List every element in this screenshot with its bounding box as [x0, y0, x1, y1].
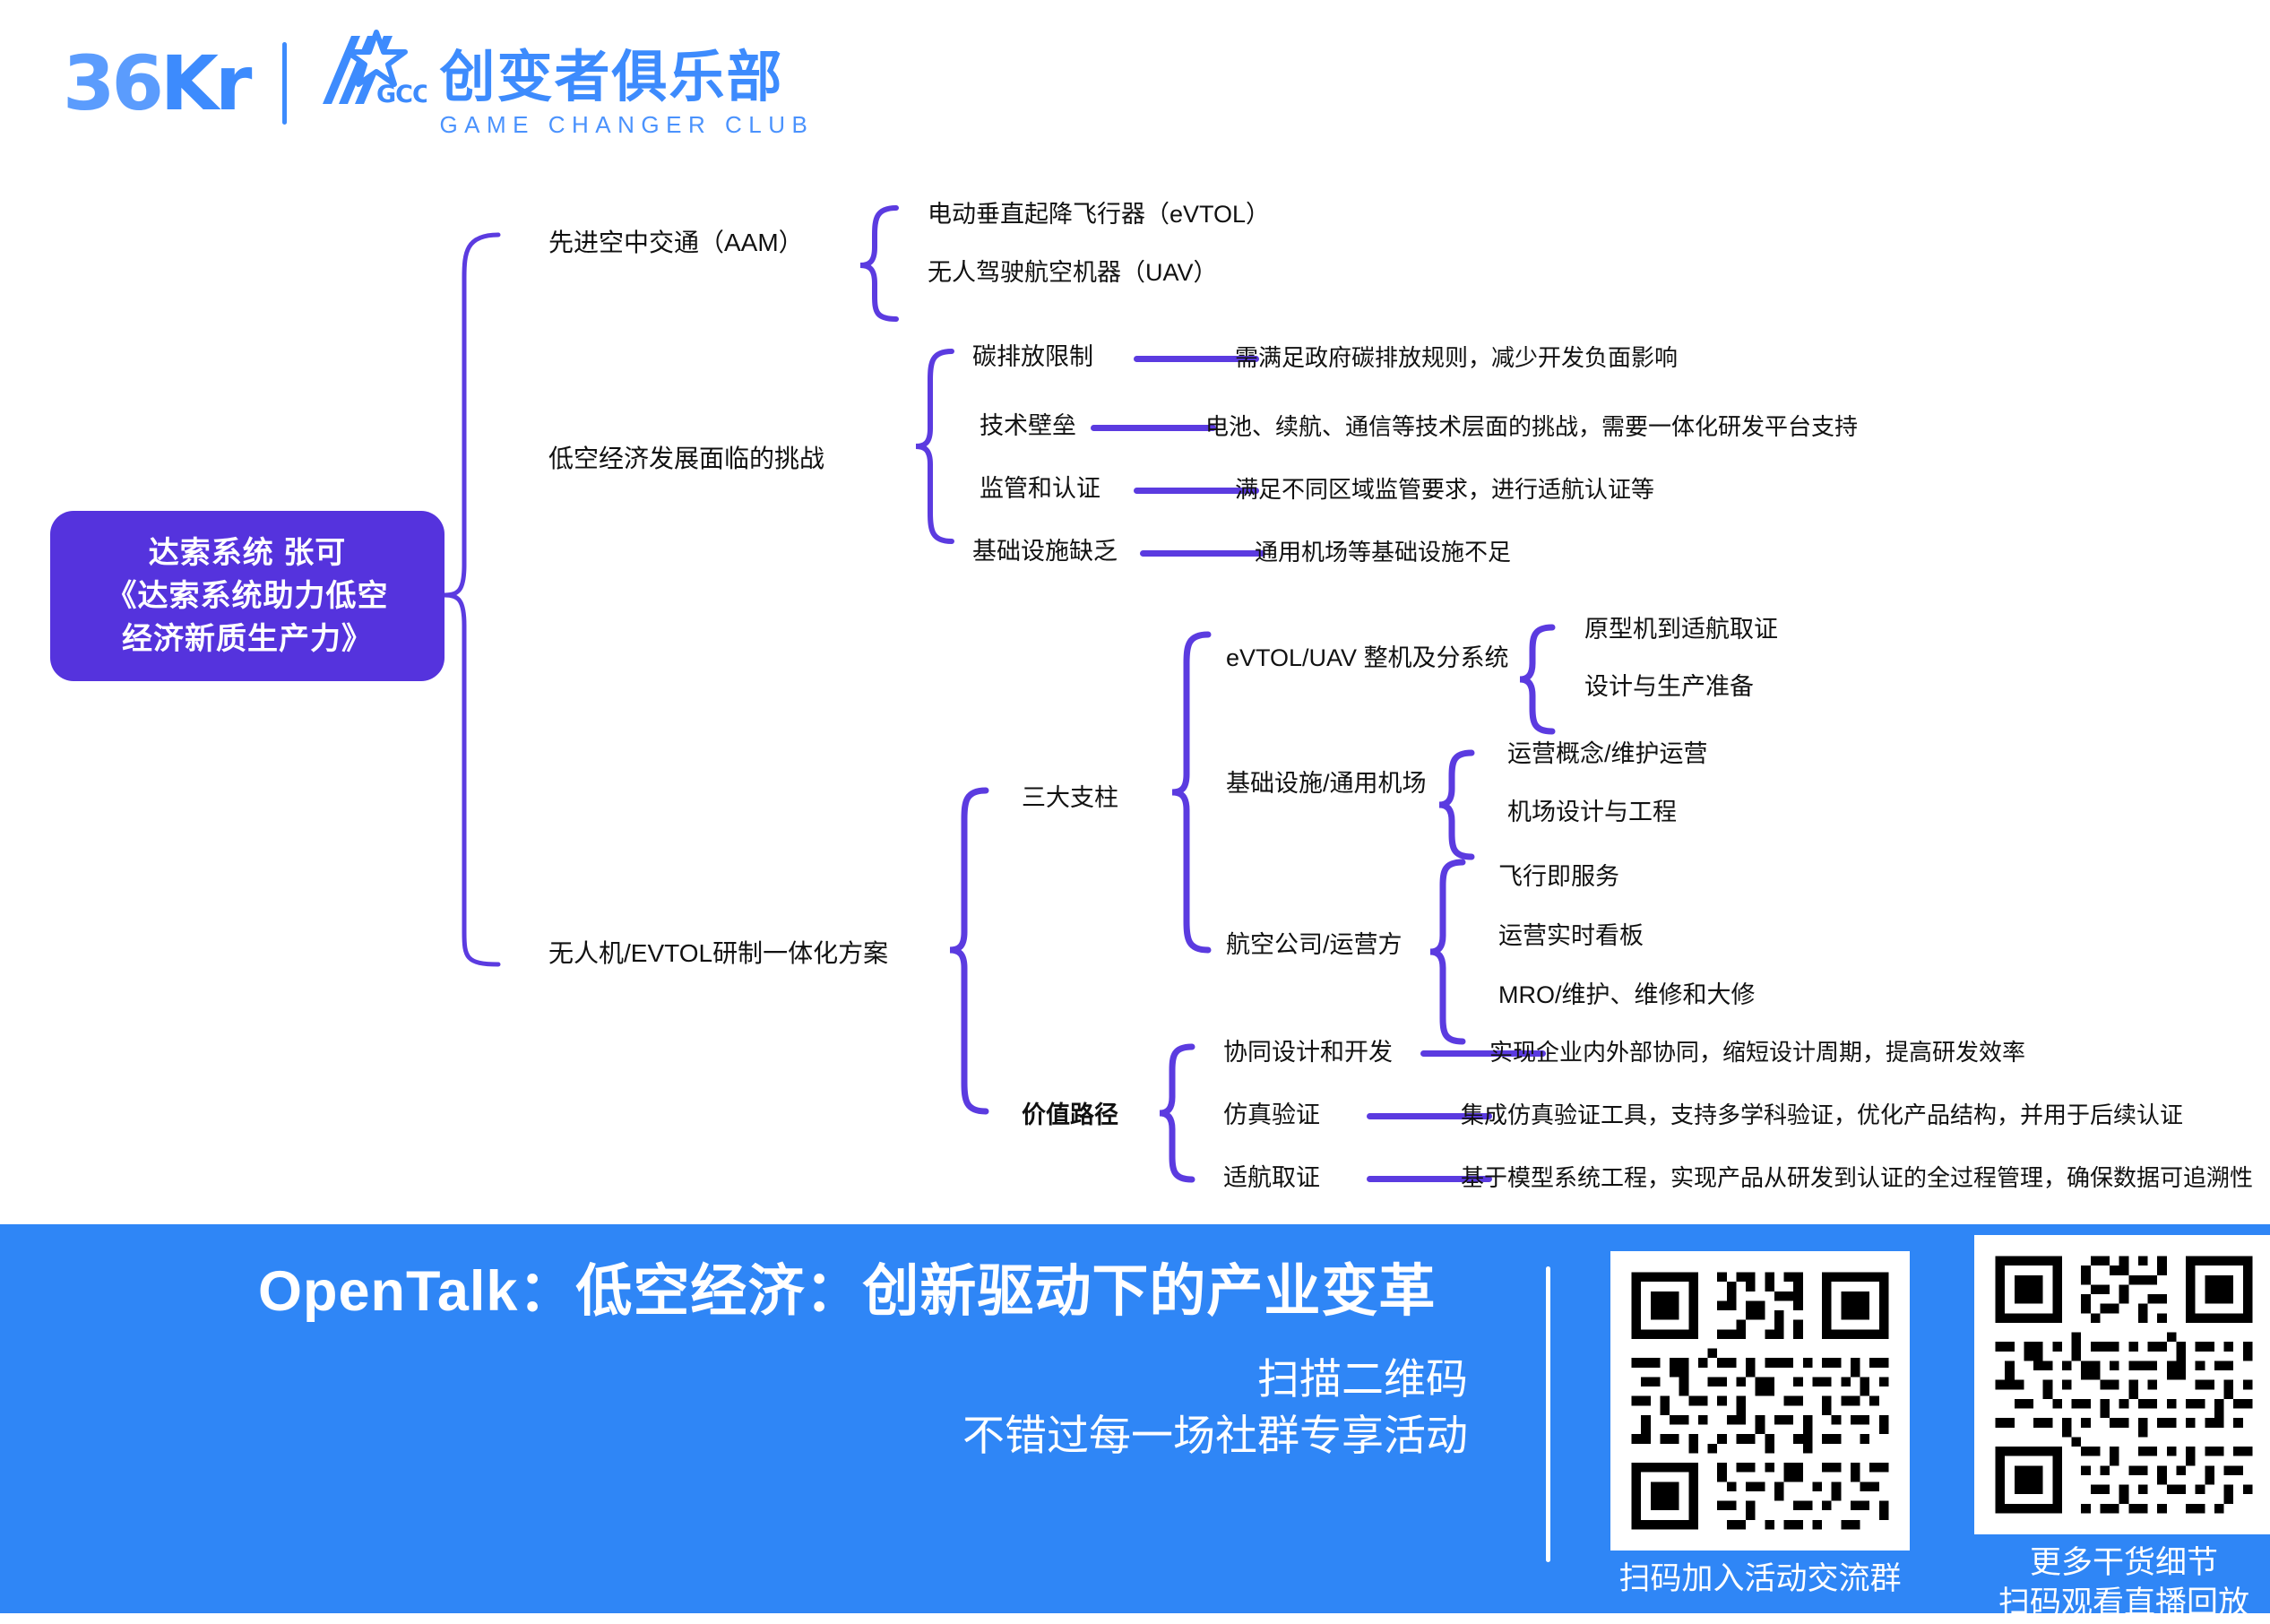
- pillar-leaf-faas[interactable]: 飞行即服务: [1498, 862, 1619, 893]
- aam-child-uav[interactable]: 无人驾驶航空机器（UAV）: [928, 258, 1218, 289]
- challenge-desc-carbon: 需满足政府碳排放规则，减少开发负面影响: [1235, 343, 1678, 373]
- challenge-desc-regulation: 满足不同区域监管要求，进行适航认证等: [1235, 475, 1654, 505]
- challenge-label-tech[interactable]: 技术壁垒: [980, 411, 1076, 442]
- pillar-label-airline-operator[interactable]: 航空公司/运营方: [1226, 930, 1403, 961]
- challenge-label-regulation[interactable]: 监管和认证: [980, 474, 1100, 505]
- banner-text-block: OpenTalk：低空经济：创新驱动下的产业变革 扫描二维码 不错过每一场社群专…: [258, 1257, 1468, 1464]
- qr-join-group-image[interactable]: [1610, 1251, 1910, 1551]
- connector-dash-infra: [1140, 550, 1265, 557]
- aam-child-evtol[interactable]: 电动垂直起降飞行器（eVTOL）: [928, 200, 1270, 230]
- qr-join-group-caption: 扫码加入活动交流群: [1618, 1559, 1901, 1600]
- banner-vertical-divider: [1546, 1266, 1550, 1562]
- qr-replay-caption-line-1: 更多干货细节: [1998, 1543, 2249, 1584]
- qr-replay-caption: 更多干货细节 扫码观看直播回放: [1998, 1543, 2249, 1624]
- pillar-leaf-airport-design[interactable]: 机场设计与工程: [1507, 798, 1677, 828]
- connector-dash-tech: [1091, 425, 1216, 431]
- challenge-desc-tech: 电池、续航、通信等技术层面的挑战，需要一体化研发平台支持: [1205, 412, 1858, 442]
- challenge-label-infra[interactable]: 基础设施缺乏: [972, 537, 1118, 567]
- pillar-leaf-design-production[interactable]: 设计与生产准备: [1584, 672, 1754, 703]
- value-desc-simulation: 集成仿真验证工具，支持多学科验证，优化产品结构，并用于后续认证: [1461, 1101, 2183, 1130]
- banner-subtitle-line-1: 扫描二维码: [258, 1351, 1468, 1407]
- root-node[interactable]: 达索系统 张可 《达索系统助力低空 经济新质生产力》: [50, 511, 445, 681]
- branch-label-uav-evtol-program[interactable]: 无人机/EVTOL研制一体化方案: [548, 937, 888, 969]
- root-line-1: 达索系统 张可: [149, 531, 346, 574]
- challenge-desc-infra: 通用机场等基础设施不足: [1255, 538, 1511, 567]
- group-label-value-path[interactable]: 价值路径: [1022, 1101, 1118, 1131]
- value-label-airworthiness[interactable]: 适航取证: [1223, 1163, 1320, 1194]
- challenge-label-carbon[interactable]: 碳排放限制: [972, 342, 1093, 373]
- banner-subtitle-line-2: 不错过每一场社群专享活动: [258, 1407, 1468, 1464]
- value-desc-airworthiness: 基于模型系统工程，实现产品从研发到认证的全过程管理，确保数据可追溯性: [1461, 1163, 2253, 1193]
- branch-label-aam[interactable]: 先进空中交通（AAM）: [548, 227, 804, 258]
- value-label-simulation[interactable]: 仿真验证: [1223, 1101, 1320, 1131]
- banner-subtitle: 扫描二维码 不错过每一场社群专享活动: [258, 1351, 1468, 1464]
- branch-label-challenges[interactable]: 低空经济发展面临的挑战: [548, 443, 824, 474]
- qr-join-group-block[interactable]: 扫码加入活动交流群: [1610, 1251, 1910, 1600]
- group-label-three-pillars[interactable]: 三大支柱: [1022, 783, 1118, 814]
- banner-title: OpenTalk：低空经济：创新驱动下的产业变革: [258, 1257, 1468, 1327]
- root-line-3: 经济新质生产力》: [122, 618, 373, 661]
- pillar-label-evtol-uav-aircraft[interactable]: eVTOL/UAV 整机及分系统: [1226, 644, 1509, 674]
- pillar-leaf-ops-concept[interactable]: 运营概念/维护运营: [1507, 739, 1708, 770]
- pillar-leaf-prototype-cert[interactable]: 原型机到适航取证: [1584, 615, 1778, 645]
- pillar-leaf-mro[interactable]: MRO/维护、维修和大修: [1498, 980, 1756, 1011]
- value-desc-collab-design: 实现企业内外部协同，缩短设计周期，提高研发效率: [1489, 1038, 2025, 1067]
- root-line-2: 《达索系统助力低空: [107, 574, 389, 618]
- mindmap: 达索系统 张可 《达索系统助力低空 经济新质生产力》 先进空中交通（AAM） 电…: [0, 0, 2270, 1224]
- qr-replay-block[interactable]: 更多干货细节 扫码观看直播回放: [1974, 1235, 2270, 1624]
- pillar-leaf-ops-dashboard[interactable]: 运营实时看板: [1498, 921, 1644, 952]
- slide-canvas: 36Kr GCC 创变者俱乐部 GAME: [0, 0, 2270, 1613]
- value-label-collab-design[interactable]: 协同设计和开发: [1223, 1038, 1393, 1068]
- pillar-label-infrastructure-airport[interactable]: 基础设施/通用机场: [1226, 769, 1427, 799]
- qr-replay-caption-line-2: 扫码观看直播回放: [1998, 1584, 2249, 1624]
- footer-banner: OpenTalk：低空经济：创新驱动下的产业变革 扫描二维码 不错过每一场社群专…: [0, 1224, 2270, 1613]
- qr-replay-image[interactable]: [1974, 1235, 2270, 1534]
